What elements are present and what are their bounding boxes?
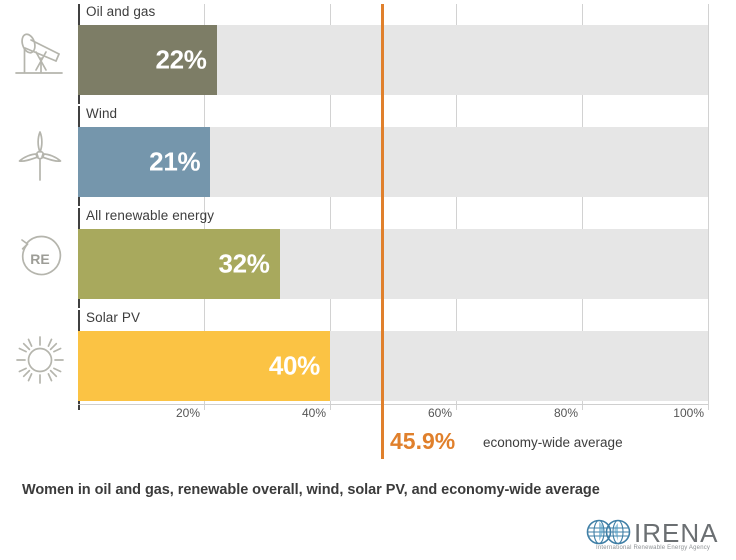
economy-wide-average-line (381, 4, 384, 459)
chart-row-solar-pv: Solar PV 40% (0, 310, 736, 410)
figure-caption: Women in oil and gas, renewable overall,… (22, 482, 600, 498)
bar-chart: Oil and gas 22% Wind 21% (0, 0, 736, 425)
bar-track: 22% (78, 25, 708, 95)
renewable-energy-re-icon: RE (8, 220, 72, 296)
bar-value-label: 40% (269, 351, 320, 382)
bar-value-label: 21% (149, 147, 200, 178)
bar-track: 40% (78, 331, 708, 401)
bar-value-label: 32% (218, 249, 269, 280)
irena-tagline: International Renewable Energy Agency (596, 545, 710, 551)
irena-globes-icon (586, 519, 632, 545)
irena-logo: IRENA International Renewable Energy Age… (586, 518, 722, 554)
sun-icon (8, 322, 72, 398)
economy-wide-average-value: 45.9% (390, 428, 455, 455)
wind-turbine-icon (8, 118, 72, 194)
bar-solar-pv: 40% (78, 331, 330, 401)
chart-row-label: Oil and gas (86, 4, 155, 19)
chart-row-wind: Wind 21% (0, 106, 736, 206)
x-tick-label-40: 40% (302, 406, 330, 420)
bar-wind: 21% (78, 127, 210, 197)
x-tick-label-80: 80% (554, 406, 582, 420)
bar-track: 32% (78, 229, 708, 299)
x-tick-label-20: 20% (176, 406, 204, 420)
bar-oil-and-gas: 22% (78, 25, 217, 95)
bar-all-renewable-energy: 32% (78, 229, 280, 299)
chart-row-all-renewable-energy: RE All renewable energy 32% (0, 208, 736, 308)
chart-row-label: Solar PV (86, 310, 140, 325)
chart-row-label: All renewable energy (86, 208, 214, 223)
bar-value-label: 22% (155, 45, 206, 76)
chart-row-oil-and-gas: Oil and gas 22% (0, 4, 736, 104)
bar-track: 21% (78, 127, 708, 197)
x-axis: 20% 40% 60% 80% 100% (0, 404, 736, 426)
chart-row-label: Wind (86, 106, 117, 121)
svg-text:RE: RE (30, 251, 49, 267)
x-tick-label-60: 60% (428, 406, 456, 420)
economy-wide-average-caption: economy-wide average (483, 435, 623, 450)
x-tick-label-100: 100% (673, 406, 708, 420)
oil-pumpjack-icon (8, 16, 72, 92)
x-axis-baseline (78, 404, 708, 405)
